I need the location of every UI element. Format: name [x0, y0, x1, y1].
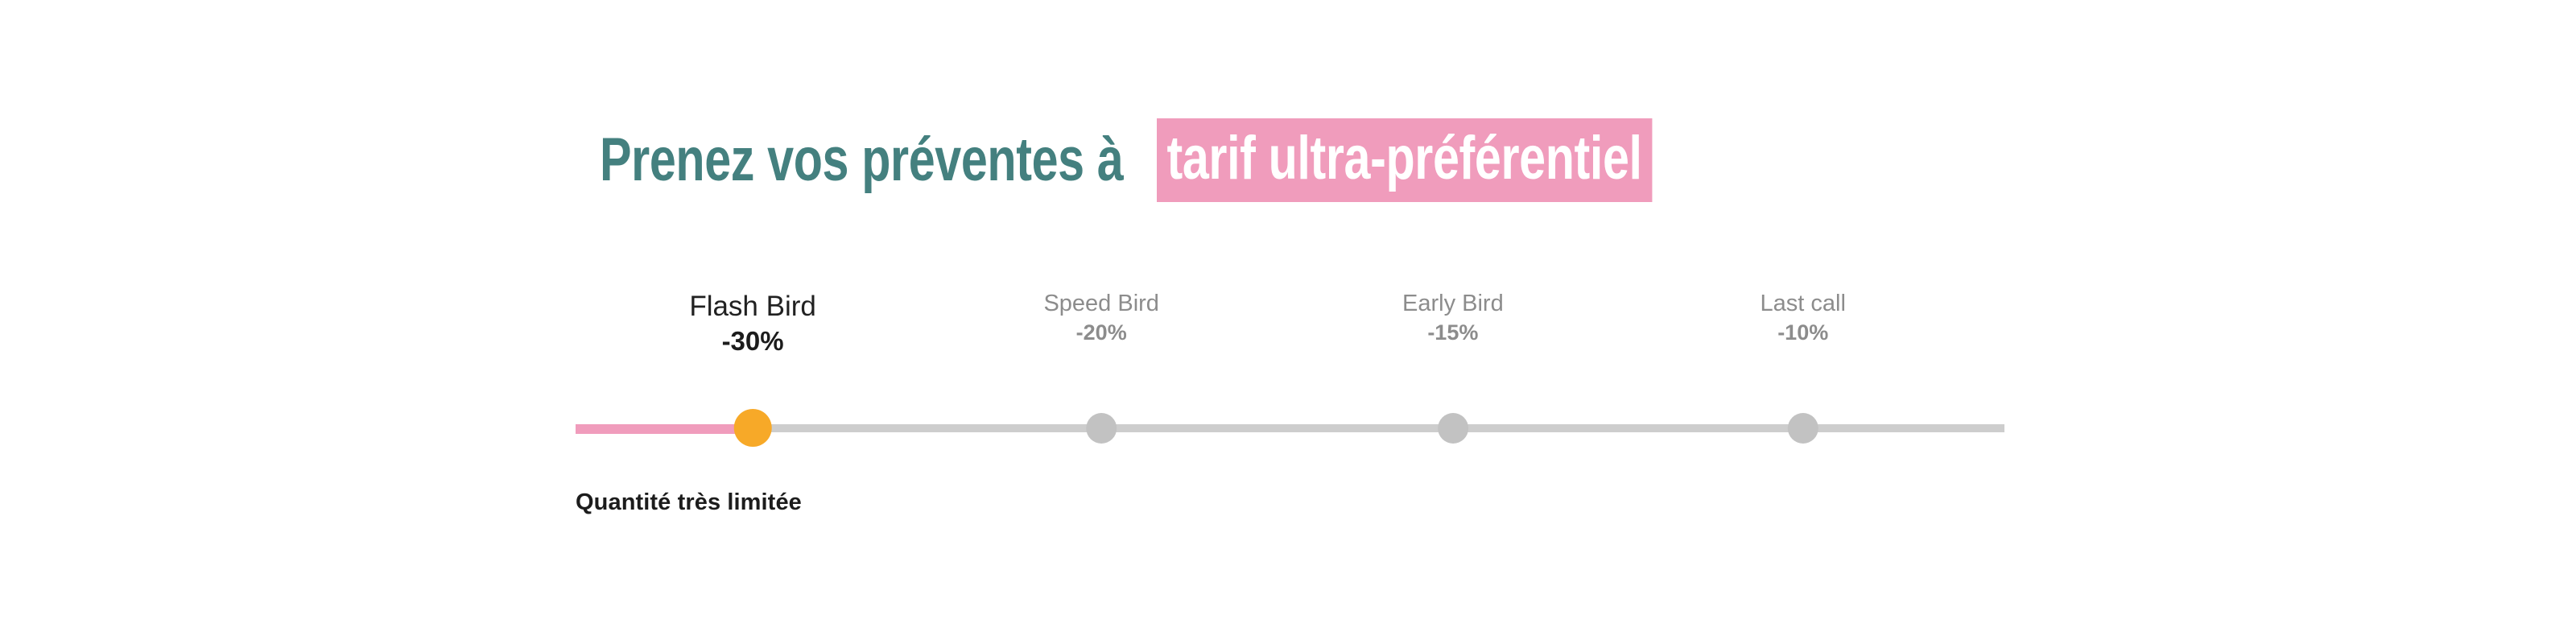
- step-dot-icon[interactable]: [1086, 413, 1117, 444]
- step-dot-icon[interactable]: [1788, 413, 1818, 444]
- headline-lead-text: Prenez vos préventes à: [600, 130, 1123, 191]
- stepper-step-early-bird[interactable]: Early Bird -15%: [1402, 290, 1504, 346]
- step-name: Speed Bird: [1043, 290, 1159, 317]
- step-dot-icon[interactable]: [734, 409, 772, 447]
- availability-note: Quantité très limitée: [576, 489, 802, 516]
- stepper-step-last-call[interactable]: Last call -10%: [1761, 290, 1846, 346]
- stepper-step-speed-bird[interactable]: Speed Bird -20%: [1043, 290, 1159, 346]
- step-discount: -30%: [689, 325, 816, 357]
- headline: Prenez vos préventes à tarif ultra-préfé…: [600, 116, 1791, 204]
- headline-highlight-text: tarif ultra-préférentiel: [1157, 118, 1652, 202]
- step-dot-icon[interactable]: [1438, 413, 1468, 444]
- step-name: Flash Bird: [689, 290, 816, 323]
- stepper-track-fill: [576, 424, 753, 434]
- step-name: Last call: [1761, 290, 1846, 317]
- stepper-step-flash-bird[interactable]: Flash Bird -30%: [689, 290, 816, 357]
- pricing-tier-stepper: Flash Bird -30% Speed Bird -20% Early Bi…: [576, 290, 2004, 451]
- step-discount: -15%: [1402, 320, 1504, 345]
- step-discount: -10%: [1761, 320, 1846, 345]
- step-name: Early Bird: [1402, 290, 1504, 317]
- step-discount: -20%: [1043, 320, 1159, 345]
